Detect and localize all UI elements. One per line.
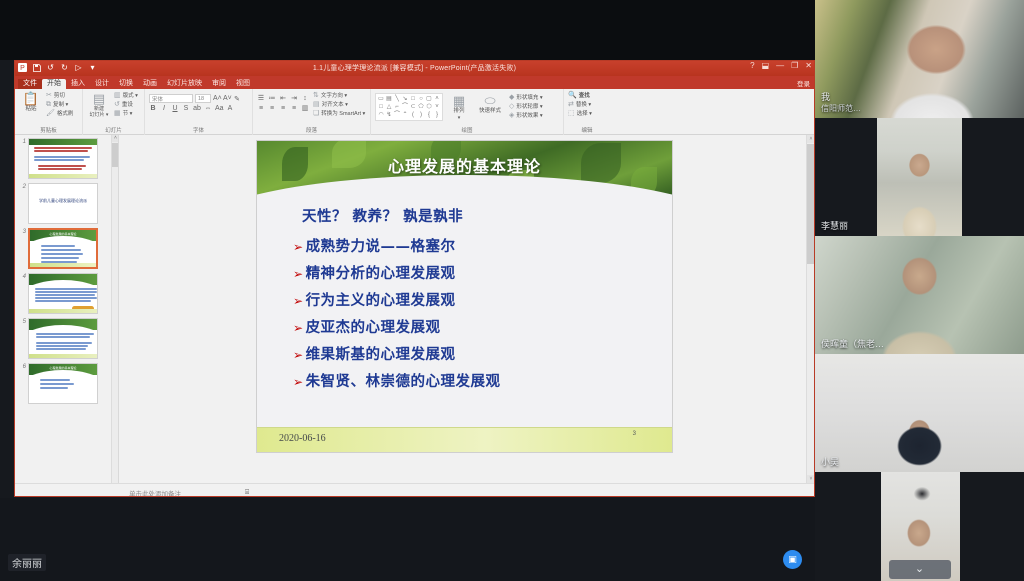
participant-name: 侯晖童（焦老…	[821, 339, 884, 350]
presenter-name-label: 余丽丽	[8, 554, 46, 571]
font-size-input[interactable]: 18	[195, 94, 211, 103]
shape-line-icon[interactable]: ╲	[393, 95, 401, 103]
tab-animations[interactable]: 动画	[138, 79, 162, 89]
bullet-arrow-icon: ➢	[293, 321, 304, 335]
decrease-indent-icon[interactable]: ⇤	[279, 94, 287, 102]
copy-button[interactable]: ⧉ 复制 ▾	[46, 101, 73, 109]
tab-insert[interactable]: 插入	[66, 79, 90, 89]
tab-design[interactable]: 设计	[90, 79, 114, 89]
format-painter-icon: 🖌	[46, 110, 55, 118]
participant-tile-2[interactable]: 李慧丽	[815, 118, 1024, 236]
paste-icon: 📋	[23, 91, 39, 106]
format-painter-button[interactable]: 🖌 格式刷	[46, 110, 73, 118]
shape-lbrace-icon[interactable]: {	[425, 111, 433, 119]
arrange-icon: ▦	[453, 93, 465, 108]
thumbnail-preview[interactable]: 学前儿童心理发展理论流派	[28, 183, 98, 224]
align-text-button[interactable]: ▤ 对齐文本 ▾	[313, 101, 365, 109]
scrollbar-thumb[interactable]	[112, 143, 119, 167]
bullet-arrow-icon: ➢	[293, 294, 304, 308]
tab-home[interactable]: 开始	[42, 79, 66, 89]
mouse-cursor-icon: ⌸	[245, 489, 249, 497]
video-subject-face	[877, 118, 962, 236]
scroll-down-button[interactable]: ⌄	[889, 560, 951, 579]
shrink-font-icon[interactable]: A˅	[223, 95, 231, 102]
powerpoint-title: 1.1儿童心理学理论流派 [兼容模式] - PowerPoint(产品激活失败)	[15, 63, 814, 73]
shape-pentagon-icon[interactable]: ⬠	[417, 103, 425, 111]
thumbnail-preview-selected[interactable]: 心理发展的基本理论	[28, 228, 98, 269]
bullet-arrow-icon: ➢	[293, 348, 304, 362]
shape-fill-button[interactable]: ◆ 形状填充 ▾	[509, 94, 543, 102]
align-center-icon[interactable]: ≡	[268, 105, 276, 112]
tab-file[interactable]: 文件	[18, 79, 42, 89]
slide-editing-pane[interactable]: 心理发展的基本理论 天性？ 教养？ 孰是孰非 ➢ 成熟势力说——格塞尔	[119, 135, 814, 483]
thumbnail-scrollbar[interactable]: ˄	[111, 135, 118, 483]
tab-review[interactable]: 审阅	[207, 79, 231, 89]
paste-button[interactable]: 📋 粘贴	[19, 91, 43, 113]
align-text-icon: ▤	[313, 101, 320, 109]
shapes-gallery[interactable]: ▭ ▤ ╲ ↘ □ ○ ▢ ˄ □ △ ⌐ ⌒ ⊂	[375, 93, 443, 121]
shared-screen-letterbox-top	[0, 0, 815, 60]
bullet-item[interactable]: ➢ 行为主义的心理发展观	[293, 289, 660, 310]
shape-oval-icon[interactable]: ○	[417, 95, 425, 103]
copy-icon: ⧉	[46, 101, 51, 109]
restore-icon[interactable]: ❐	[791, 62, 798, 70]
bullet-arrow-icon: ➢	[293, 240, 304, 254]
participant-tile-1[interactable]: 我 信阳师范…	[815, 0, 1024, 118]
shape-rect2-icon[interactable]: □	[377, 103, 385, 111]
bullet-item[interactable]: ➢ 成熟势力说——格塞尔	[293, 235, 660, 256]
bullet-arrow-icon: ➢	[293, 267, 304, 281]
shape-lparen-icon[interactable]: (	[409, 111, 417, 119]
shape-wave-icon[interactable]: ⌒	[393, 111, 401, 119]
thumbnail-preview[interactable]	[28, 138, 98, 179]
change-case-icon[interactable]: Aa	[215, 105, 223, 112]
bullet-item[interactable]: ➢ 皮亚杰的心理发展观	[293, 316, 660, 337]
shape-hexagon-icon[interactable]: ⬡	[425, 103, 433, 111]
shadow-icon[interactable]: S	[182, 105, 190, 112]
underline-icon[interactable]: U	[171, 105, 179, 112]
thumbnail-preview[interactable]	[28, 273, 98, 314]
align-right-icon[interactable]: ≡	[279, 105, 287, 112]
thumbnail-item-3[interactable]: 3 心理发展的基本理论	[18, 228, 116, 269]
thumbnail-item-6[interactable]: 6 心理发展的基本理论	[18, 363, 116, 404]
select-icon: ⬚	[568, 110, 575, 118]
character-spacing-icon[interactable]: ⇔	[204, 105, 212, 112]
shape-freeform-icon[interactable]: ◠	[377, 111, 385, 119]
shapes-more-down-icon[interactable]: ˅	[433, 103, 441, 111]
scrollbar-thumb[interactable]	[807, 144, 815, 264]
line-spacing-icon[interactable]: ↕	[301, 95, 309, 102]
window-controls[interactable]: ? ⬓ — ❐ ✕	[750, 62, 812, 70]
shape-chevron-icon[interactable]: ⌃	[401, 111, 409, 119]
signin-link[interactable]: 登录	[797, 78, 810, 88]
minimize-icon[interactable]: —	[776, 62, 784, 70]
bullets-icon[interactable]: ☰	[257, 94, 265, 102]
shape-fill-icon: ◆	[509, 94, 514, 102]
section-icon: ▦	[114, 110, 121, 118]
participant-name: 李慧丽	[821, 221, 848, 232]
shape-rparen-icon[interactable]: )	[417, 111, 425, 119]
participant-video-strip[interactable]: 我 信阳师范… 李慧丽 侯晖童（焦老… 小吴	[815, 0, 1024, 581]
bullet-item[interactable]: ➢ 朱智贤、林崇德的心理发展观	[293, 370, 660, 391]
ribbon-group-paragraph: ☰ ≔ ⇤ ⇥ ↕ ≡ ≡ ≡ ≡ ▥	[253, 89, 371, 135]
shape-rect-icon[interactable]: ▭	[377, 95, 385, 103]
justify-icon[interactable]: ≡	[290, 105, 298, 112]
grow-font-icon[interactable]: A˄	[213, 95, 221, 102]
participant-tile-4[interactable]: 小吴	[815, 354, 1024, 472]
thumbnail-item-4[interactable]: 4	[18, 273, 116, 314]
slide-pane-scrollbar[interactable]: ˄ ˅	[806, 135, 814, 483]
zoom-meeting-window: P ↺ ↻ ▷ ▾ 1.1儿童心理学理论流派 [兼容模式] - PowerPoi…	[0, 0, 1024, 581]
shape-arrow-icon[interactable]: ↘	[401, 95, 409, 103]
screen-share-icon: ▣	[788, 555, 797, 564]
font-color-icon[interactable]: A	[226, 105, 234, 112]
powerpoint-window[interactable]: P ↺ ↻ ▷ ▾ 1.1儿童心理学理论流派 [兼容模式] - PowerPoi…	[14, 60, 815, 497]
align-left-icon[interactable]: ≡	[257, 105, 265, 112]
new-slide-button[interactable]: ▤ 新建幻灯片 ▾	[87, 91, 111, 118]
shape-roundrect-icon[interactable]: ▢	[425, 95, 433, 103]
font-name-input[interactable]: 宋体	[149, 94, 193, 103]
scroll-up-icon[interactable]: ˄	[112, 135, 119, 142]
shape-effects-button[interactable]: ◈ 形状效果 ▾	[509, 112, 543, 120]
strikethrough-icon[interactable]: ab	[193, 105, 201, 112]
ribbon-group-clipboard: 📋 粘贴 ✂ 剪切 ⧉ 复制 ▾	[15, 89, 83, 135]
notes-placeholder[interactable]: 单击此处添加备注	[129, 488, 181, 497]
select-button[interactable]: ⬚ 选择 ▾	[568, 110, 592, 118]
participant-name: 小吴	[821, 457, 839, 468]
quick-styles-icon: ⬭	[484, 93, 495, 108]
shared-screen-letterbox-bottom	[0, 498, 815, 581]
shape-outline-icon: ◇	[509, 103, 514, 111]
shape-rbrace-icon[interactable]: }	[433, 111, 441, 119]
replace-icon: ⇄	[568, 101, 574, 109]
participant-tile-3[interactable]: 侯晖童（焦老…	[815, 236, 1024, 354]
clear-format-icon[interactable]: ✎	[233, 95, 241, 103]
shapes-more-up-icon[interactable]: ˄	[433, 95, 441, 103]
slide-date: 2020-06-16	[279, 433, 326, 444]
find-icon: 🔍	[568, 92, 577, 100]
smartart-icon: ❏	[313, 110, 319, 118]
slide-page-number: 3	[633, 431, 636, 437]
scroll-up-icon[interactable]: ˄	[807, 135, 815, 143]
close-icon[interactable]: ✕	[805, 62, 812, 70]
new-slide-icon: ▤	[93, 91, 105, 106]
columns-icon[interactable]: ▥	[301, 104, 309, 112]
thumbnail-preview[interactable]: 心理发展的基本理论	[28, 363, 98, 404]
shape-elbow-icon[interactable]: ⌐	[393, 103, 401, 111]
powerpoint-title-bar: P ↺ ↻ ▷ ▾ 1.1儿童心理学理论流派 [兼容模式] - PowerPoi…	[15, 61, 814, 76]
slide-bullet-list[interactable]: 天性？ 教养？ 孰是孰非 ➢ 成熟势力说——格塞尔 ➢ 精神分析的心理发展观	[293, 205, 660, 397]
current-slide[interactable]: 心理发展的基本理论 天性？ 教养？ 孰是孰非 ➢ 成熟势力说——格塞尔	[257, 141, 672, 452]
thumbnail-item-5[interactable]: 5	[18, 318, 116, 359]
quick-styles-button[interactable]: ⬭ 快速样式	[475, 93, 505, 115]
ribbon-group-editing: 🔍 查找 ⇄ 替换 ▾ ⬚ 选择 ▾	[564, 89, 610, 135]
slide-title[interactable]: 心理发展的基本理论	[257, 153, 672, 177]
text-direction-button[interactable]: ⇅ 文字方向 ▾	[313, 92, 365, 100]
thumbnail-item-2[interactable]: 2 学前儿童心理发展理论流派	[18, 183, 116, 224]
bullet-item[interactable]: ➢ 维果斯基的心理发展观	[293, 343, 660, 364]
slide-body[interactable]: 天性？ 教养？ 孰是孰非 ➢ 成熟势力说——格塞尔 ➢ 精神分析的心理发展观	[257, 199, 672, 452]
tab-slideshow[interactable]: 幻灯片放映	[162, 79, 207, 89]
shape-effects-icon: ◈	[509, 112, 514, 120]
arrange-button[interactable]: ▦ 排列 ▾	[447, 93, 471, 122]
smartart-button[interactable]: ❏ 转换为 SmartArt ▾	[313, 110, 365, 118]
layout-icon: ▥	[114, 92, 121, 100]
scroll-down-icon[interactable]: ˅	[807, 475, 815, 483]
italic-icon[interactable]: I	[160, 105, 168, 112]
tab-view[interactable]: 视图	[231, 79, 255, 89]
ribbon[interactable]: 📋 粘贴 ✂ 剪切 ⧉ 复制 ▾	[15, 89, 814, 135]
bullet-item[interactable]: 天性？ 教养？ 孰是孰非	[293, 205, 660, 226]
ribbon-group-drawing: ▭ ▤ ╲ ↘ □ ○ ▢ ˄ □ △ ⌐ ⌒ ⊂	[371, 89, 564, 135]
text-direction-icon: ⇅	[313, 92, 319, 100]
shape-curve-icon[interactable]: ⌒	[401, 103, 409, 111]
bullet-arrow-icon: ➢	[293, 375, 304, 389]
ribbon-display-icon[interactable]: ⬓	[762, 62, 770, 70]
notes-pane[interactable]: 单击此处添加备注 ⌸	[15, 483, 814, 497]
cut-icon: ✂	[46, 92, 52, 100]
video-subject	[815, 236, 1024, 354]
cut-button[interactable]: ✂ 剪切	[46, 92, 73, 100]
ribbon-group-font: 宋体 18 A˄ A˅ ✎ B I U S ab ⇔	[145, 89, 253, 135]
ribbon-tab-strip[interactable]: 文件 开始 插入 设计 切换 动画 幻灯片放映 审阅 视图 登录	[15, 76, 814, 89]
section-button[interactable]: ▦ 节 ▾	[114, 110, 138, 118]
reset-icon: ↺	[114, 101, 120, 109]
tab-transitions[interactable]: 切换	[114, 79, 138, 89]
shape-square-icon[interactable]: □	[409, 95, 417, 103]
screen-share-icon-button[interactable]: ▣	[783, 550, 802, 569]
increase-indent-icon[interactable]: ⇥	[290, 94, 298, 102]
slide-footer-bar: 2020-06-16 3	[257, 427, 672, 452]
chevron-down-icon: ⌄	[915, 564, 924, 575]
shape-arc-icon[interactable]: ⊂	[409, 103, 417, 111]
shape-triangle-icon[interactable]: △	[385, 103, 393, 111]
help-icon[interactable]: ?	[750, 62, 754, 70]
reset-button[interactable]: ↺ 重设	[114, 101, 138, 109]
layout-button[interactable]: ▥ 版式 ▾	[114, 92, 138, 100]
shape-textbox-icon[interactable]: ▤	[385, 95, 393, 103]
video-subject	[815, 354, 1024, 472]
shape-outline-button[interactable]: ◇ 形状轮廓 ▾	[509, 103, 543, 111]
numbering-icon[interactable]: ≔	[268, 94, 276, 102]
bullet-item[interactable]: ➢ 精神分析的心理发展观	[293, 262, 660, 283]
participant-name: 我 信阳师范…	[821, 92, 861, 114]
bold-icon[interactable]: B	[149, 105, 157, 112]
thumbnail-item-1[interactable]: 1	[18, 138, 116, 179]
shared-screen-area[interactable]: P ↺ ↻ ▷ ▾ 1.1儿童心理学理论流派 [兼容模式] - PowerPoi…	[0, 0, 815, 581]
slide-thumbnail-pane[interactable]: 1	[15, 135, 119, 483]
thumbnail-preview[interactable]	[28, 318, 98, 359]
ribbon-group-slides: ▤ 新建幻灯片 ▾ ▥ 版式 ▾ ↺ 重设	[83, 89, 145, 135]
participant-tile-5[interactable]: ⌄	[815, 472, 1024, 581]
shape-scribble-icon[interactable]: ↯	[385, 111, 393, 119]
replace-button[interactable]: ⇄ 替换 ▾	[568, 101, 592, 109]
find-button[interactable]: 🔍 查找	[568, 92, 592, 100]
powerpoint-main-area: 1	[15, 135, 814, 483]
